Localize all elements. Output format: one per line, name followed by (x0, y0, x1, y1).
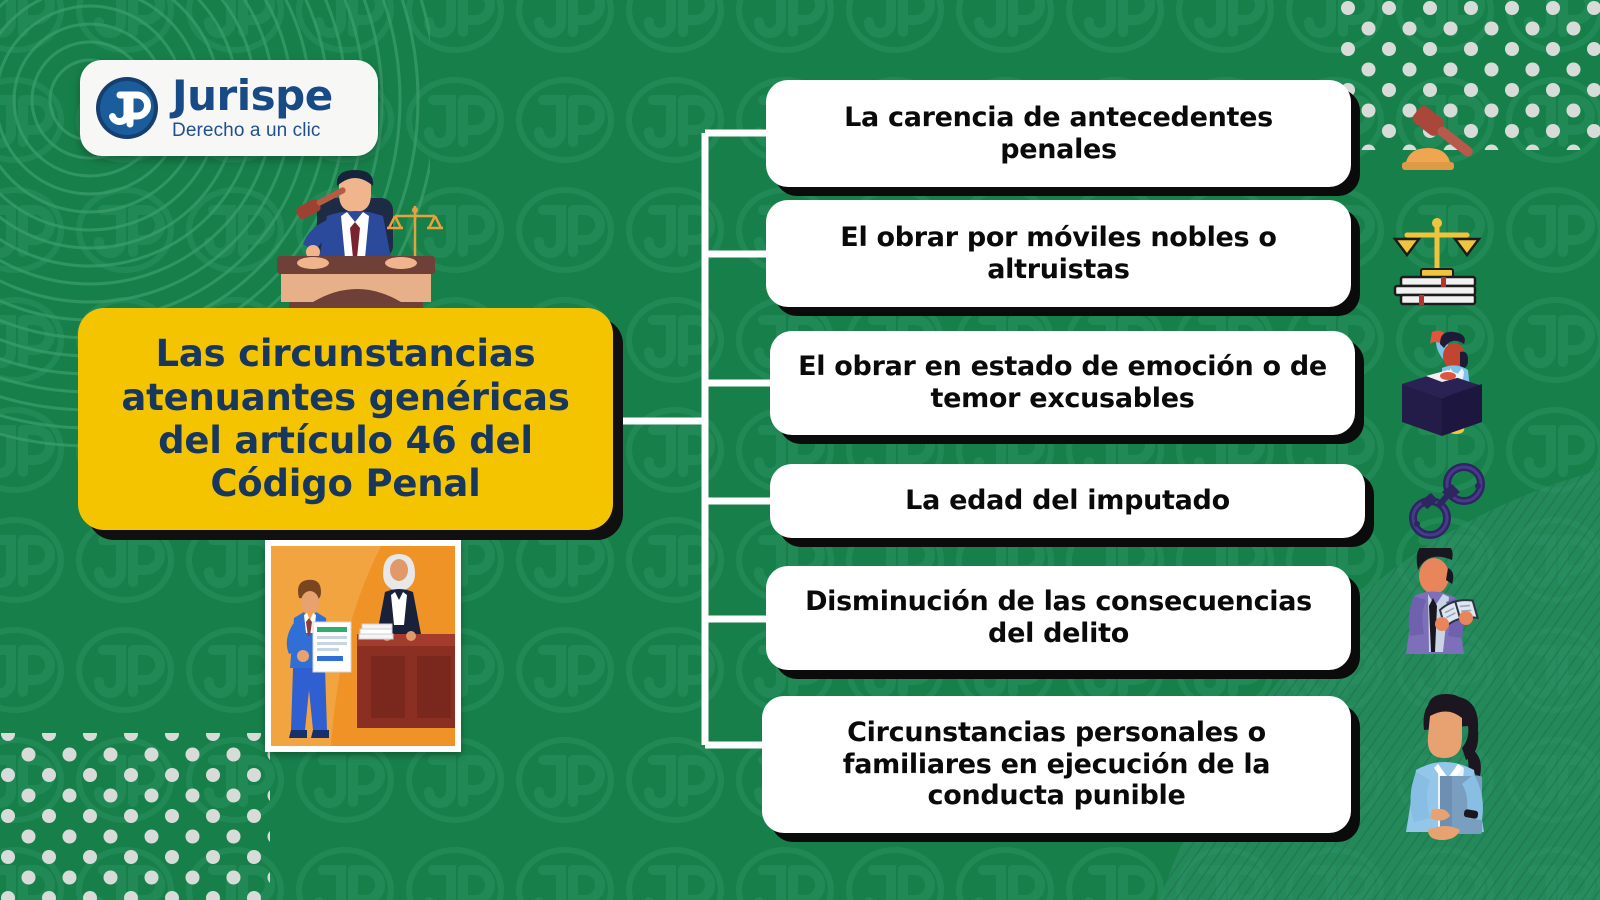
card-item-2-text: El obrar por móviles nobles o altruistas (792, 222, 1325, 286)
man-reading-book-icon (1388, 548, 1493, 668)
person-taking-oath-icon (1390, 330, 1500, 445)
central-topic-title: Las circunstancias atenuantes genéricas … (104, 332, 587, 505)
card-item-1-text: La carencia de antecedentes penales (792, 102, 1325, 166)
gavel-icon (1390, 100, 1490, 180)
handcuffs-icon (1400, 462, 1495, 542)
card-item-4-text: La edad del imputado (905, 485, 1230, 517)
infographic-canvas: Jurispe Derecho a un clic (0, 0, 1600, 900)
card-item-3[interactable]: El obrar en estado de emoción o de temor… (770, 331, 1355, 435)
woman-with-folder-icon (1386, 692, 1506, 847)
card-item-5[interactable]: Disminución de las consecuencias del del… (766, 566, 1351, 670)
card-item-5-text: Disminución de las consecuencias del del… (792, 586, 1325, 650)
card-item-6-text: Circunstancias personales o familiares e… (788, 717, 1325, 813)
card-item-6[interactable]: Circunstancias personales o familiares e… (762, 696, 1351, 833)
courtroom-scene-illustration (265, 540, 461, 752)
judge-at-bench-illustration (255, 160, 455, 315)
card-item-4[interactable]: La edad del imputado (770, 464, 1365, 538)
card-item-2[interactable]: El obrar por móviles nobles o altruistas (766, 200, 1351, 307)
scales-of-justice-on-books-icon (1385, 215, 1490, 310)
card-item-3-text: El obrar en estado de emoción o de temor… (796, 351, 1329, 415)
central-topic-node[interactable]: Las circunstancias atenuantes genéricas … (78, 308, 613, 530)
card-item-1[interactable]: La carencia de antecedentes penales (766, 80, 1351, 187)
